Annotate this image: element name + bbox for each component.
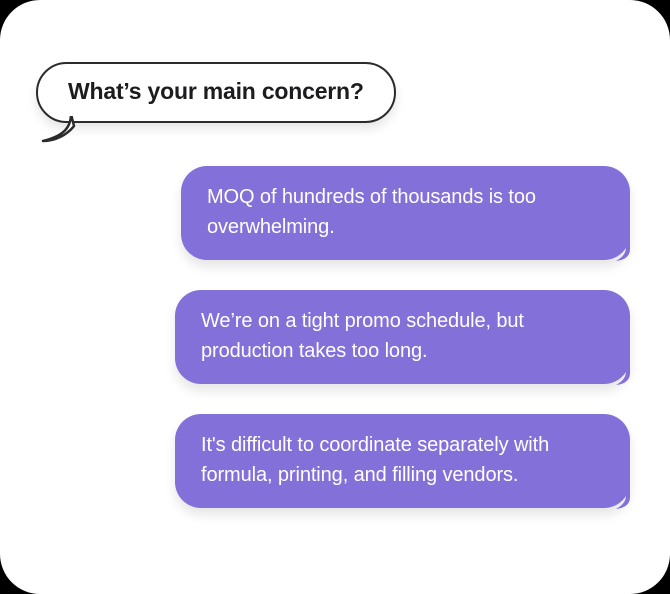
answer-bubble-tail-icon [614,227,644,261]
question-bubble-tail-icon [41,114,81,144]
answer-bubble: MOQ of hundreds of thousands is too over… [181,166,630,260]
answer-text: MOQ of hundreds of thousands is too over… [207,182,604,242]
answer-bubble-tail-icon [614,475,644,509]
answer-text: It's difficult to coordinate separately … [201,430,604,490]
chat-card: What’s your main concern? MOQ of hundred… [0,0,670,594]
answer-bubble-tail-icon [614,351,644,385]
question-text: What’s your main concern? [68,78,364,106]
question-row: What’s your main concern? [36,62,396,123]
question-bubble: What’s your main concern? [36,62,396,123]
answer-text: We’re on a tight promo schedule, but pro… [201,306,604,366]
answer-bubble: We’re on a tight promo schedule, but pro… [175,290,630,384]
answer-bubble: It's difficult to coordinate separately … [175,414,630,508]
